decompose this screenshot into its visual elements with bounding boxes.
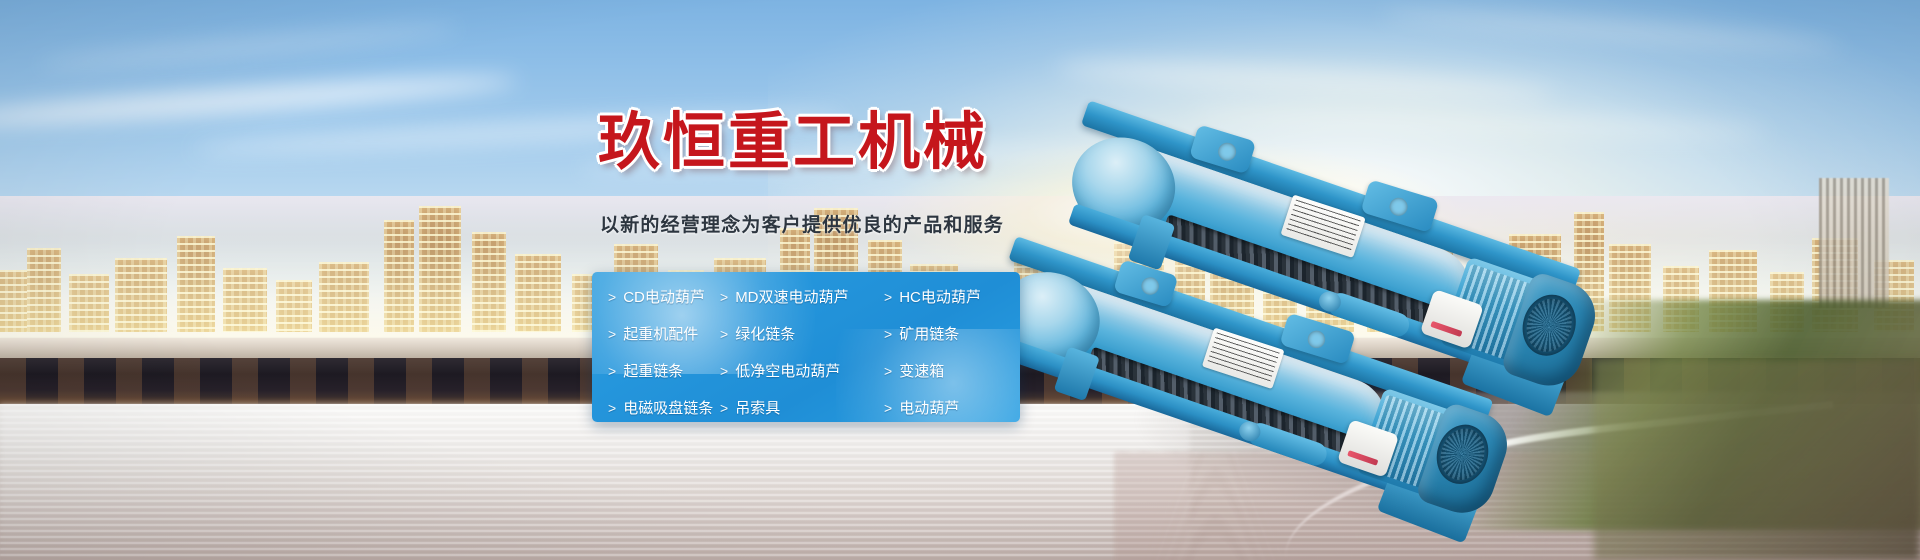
- product-link-label: 电磁吸盘链条: [623, 397, 713, 418]
- chevron-right-icon: >: [608, 401, 616, 415]
- roadside-hillside-near: [1594, 360, 1920, 560]
- cloud-streak-icon: [0, 70, 518, 133]
- product-link-label: 吊索具: [735, 397, 780, 418]
- product-link-10[interactable]: >电磁吸盘链条: [608, 397, 720, 418]
- cloud-streak-icon: [1056, 54, 1556, 108]
- product-link-label: 绿化链条: [735, 323, 795, 344]
- product-link-label: 变速箱: [899, 360, 944, 381]
- product-link-8[interactable]: >低净空电动葫芦: [720, 360, 860, 381]
- product-link-12[interactable]: >电动葫芦: [860, 397, 1020, 418]
- chevron-right-icon: >: [884, 290, 892, 304]
- product-links-grid: >CD电动葫芦>MD双速电动葫芦>HC电动葫芦>起重机配件>绿化链条>矿用链条>…: [592, 272, 1020, 422]
- chevron-right-icon: >: [884, 401, 892, 415]
- product-link-2[interactable]: >MD双速电动葫芦: [720, 286, 860, 307]
- chevron-right-icon: >: [720, 364, 728, 378]
- product-link-7[interactable]: >起重链条: [608, 360, 720, 381]
- product-link-label: 矿用链条: [899, 323, 959, 344]
- product-link-6[interactable]: >矿用链条: [860, 323, 1020, 344]
- chevron-right-icon: >: [608, 364, 616, 378]
- cloud-streak-icon: [39, 21, 461, 72]
- distant-tower: [1819, 178, 1889, 308]
- chevron-right-icon: >: [884, 327, 892, 341]
- product-link-label: 起重链条: [623, 360, 683, 381]
- chevron-right-icon: >: [720, 401, 728, 415]
- road-motion-blur: [0, 404, 1190, 560]
- product-link-11[interactable]: >吊索具: [720, 397, 860, 418]
- banner-subtitle: 以新的经营理念为客户提供优良的产品和服务: [600, 216, 1004, 235]
- product-link-1[interactable]: >CD电动葫芦: [608, 286, 720, 307]
- product-link-label: 起重机配件: [623, 323, 698, 344]
- product-links-panel: >CD电动葫芦>MD双速电动葫芦>HC电动葫芦>起重机配件>绿化链条>矿用链条>…: [592, 272, 1020, 422]
- chevron-right-icon: >: [720, 327, 728, 341]
- product-link-label: MD双速电动葫芦: [735, 286, 848, 307]
- chevron-right-icon: >: [608, 290, 616, 304]
- promo-banner: 玖恒重工机械 以新的经营理念为客户提供优良的产品和服务 >CD电动葫芦>MD双速…: [0, 0, 1920, 560]
- product-link-label: 低净空电动葫芦: [735, 360, 840, 381]
- chevron-right-icon: >: [720, 290, 728, 304]
- chevron-right-icon: >: [884, 364, 892, 378]
- product-link-3[interactable]: >HC电动葫芦: [860, 286, 1020, 307]
- product-link-9[interactable]: >变速箱: [860, 360, 1020, 381]
- product-link-label: CD电动葫芦: [623, 286, 705, 307]
- cloud-streak-icon: [1382, 6, 1843, 56]
- product-link-4[interactable]: >起重机配件: [608, 323, 720, 344]
- cloud-streak-icon: [1190, 102, 1766, 144]
- chevron-right-icon: >: [608, 327, 616, 341]
- product-link-label: 电动葫芦: [899, 397, 959, 418]
- product-link-5[interactable]: >绿化链条: [720, 323, 860, 344]
- banner-title: 玖恒重工机械: [598, 112, 988, 174]
- product-link-label: HC电动葫芦: [899, 286, 981, 307]
